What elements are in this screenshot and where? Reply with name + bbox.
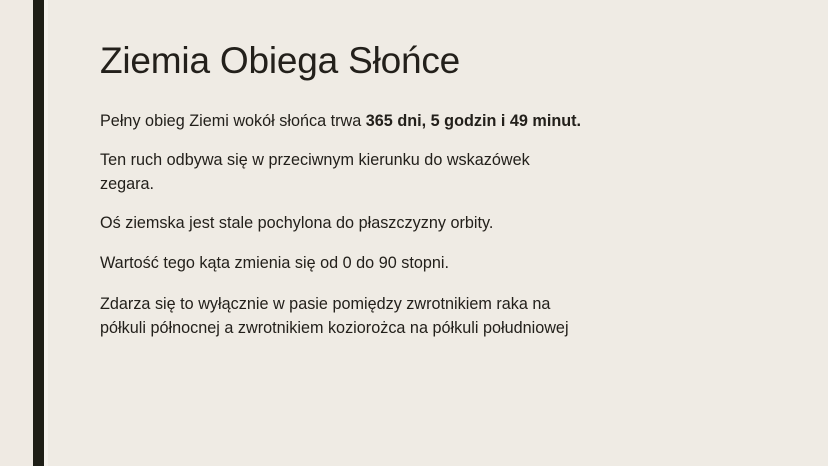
paragraph-lead-text: Pełny obieg Ziemi wokół słońca trwa — [100, 112, 366, 130]
paragraph-lead-text: Zdarza się to wyłącznie w pasie pomiędzy… — [100, 295, 569, 338]
slide-title: Ziemia Obiega Słońce — [100, 38, 780, 84]
body-paragraph: Zdarza się to wyłącznie w pasie pomiędzy… — [100, 292, 592, 341]
body-paragraph: Pełny obieg Ziemi wokół słońca trwa 365 … — [100, 109, 592, 134]
slide-canvas: Ziemia Obiega Słońce Pełny obieg Ziemi w… — [0, 0, 828, 466]
body-paragraph: Oś ziemska jest stale pochylona do płasz… — [100, 211, 592, 236]
accent-bar — [33, 0, 44, 466]
slide-content-panel: Ziemia Obiega Słońce Pełny obieg Ziemi w… — [48, 0, 828, 466]
paragraph-lead-text: Wartość tego kąta zmienia się od 0 do 90… — [100, 254, 449, 272]
body-paragraph: Wartość tego kąta zmienia się od 0 do 90… — [100, 251, 592, 276]
slide-body: Pełny obieg Ziemi wokół słońca trwa 365 … — [100, 109, 600, 341]
body-paragraph: Ten ruch odbywa się w przeciwnym kierunk… — [100, 148, 540, 197]
paragraph-emphasis-text: 365 dni, 5 godzin i 49 minut. — [366, 112, 581, 130]
paragraph-lead-text: Ten ruch odbywa się w przeciwnym kierunk… — [100, 151, 530, 194]
paragraph-lead-text: Oś ziemska jest stale pochylona do płasz… — [100, 214, 493, 232]
left-margin-strip — [0, 0, 33, 466]
